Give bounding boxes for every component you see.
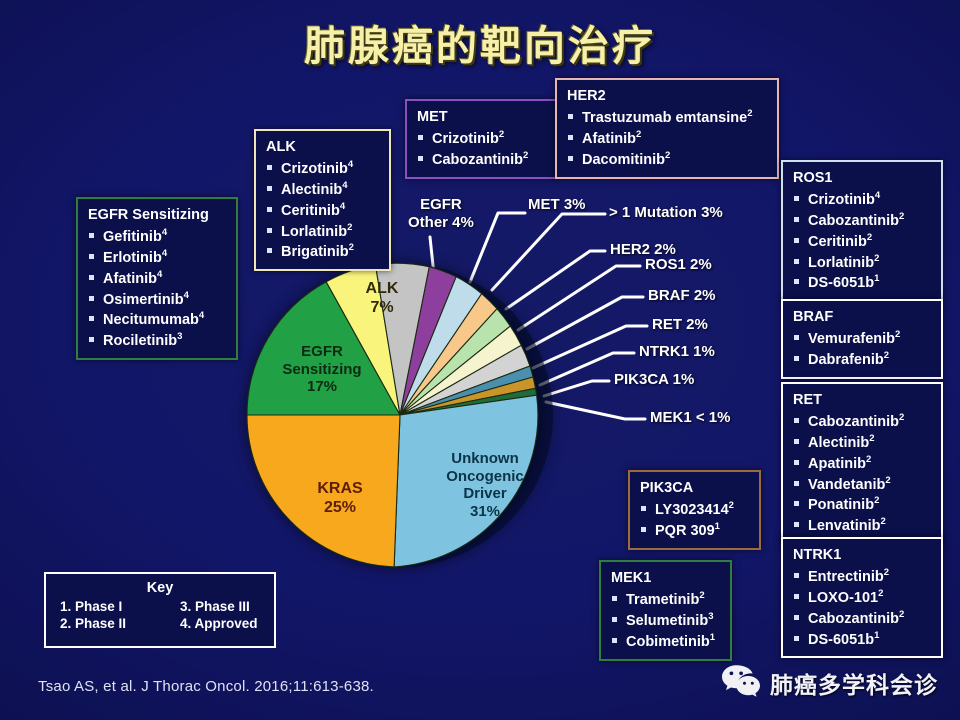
drug-item: DS-6051b1 <box>791 629 933 650</box>
bullet-square-icon <box>568 135 573 140</box>
slide-canvas: 肺腺癌的靶向治疗 <box>0 0 960 720</box>
drug-box-title-egfr-sensitizing: EGFR Sensitizing <box>88 206 228 224</box>
bullet-square-icon <box>794 636 799 641</box>
drug-name: Rociletinib <box>103 333 177 349</box>
drug-item: Cabozantinib2 <box>415 149 547 170</box>
drug-phase-superscript: 2 <box>899 412 904 423</box>
drug-phase-superscript: 2 <box>884 567 889 578</box>
drug-phase-superscript: 2 <box>349 242 354 253</box>
bullet-square-icon <box>794 460 799 465</box>
bullet-square-icon <box>568 156 573 161</box>
callout-pik3ca: PIK3CA 1% <box>614 371 694 388</box>
drug-item: LY30234142 <box>638 499 751 520</box>
drug-item: PQR 3091 <box>638 520 751 541</box>
drug-box-title-alk: ALK <box>266 138 381 156</box>
drug-box-braf: BRAFVemurafenib2Dabrafenib2 <box>781 299 943 379</box>
drug-name: Cabozantinib <box>808 414 899 430</box>
drug-list-ret: Cabozantinib2Alectinib2Apatinib2Vandetan… <box>791 411 933 536</box>
drug-box-title-braf: BRAF <box>793 308 933 326</box>
page-title: 肺腺癌的靶向治疗 <box>0 12 960 72</box>
drug-list-pik3ca: LY30234142PQR 3091 <box>638 499 751 541</box>
drug-box-her2: HER2Trastuzumab emtansine2Afatinib2Dacom… <box>555 78 779 179</box>
drug-item: Afatinib2 <box>565 128 769 149</box>
drug-phase-superscript: 2 <box>636 129 641 140</box>
drug-name: Trastuzumab emtansine <box>582 110 747 126</box>
bullet-square-icon <box>267 228 272 233</box>
key-item: 4. Approved <box>160 616 266 631</box>
drug-name: Vandetanib <box>808 476 885 492</box>
callout-ros1: ROS1 2% <box>645 256 712 273</box>
bullet-square-icon <box>794 501 799 506</box>
drug-item: Cabozantinib2 <box>791 608 933 629</box>
drug-phase-superscript: 2 <box>869 433 874 444</box>
bullet-square-icon <box>267 165 272 170</box>
drug-name: Erlotinib <box>103 250 162 266</box>
drug-phase-superscript: 2 <box>747 108 752 119</box>
drug-box-title-pik3ca: PIK3CA <box>640 479 751 497</box>
drug-box-ret: RETCabozantinib2Alectinib2Apatinib2Vande… <box>781 382 943 545</box>
drug-phase-superscript: 2 <box>699 590 704 601</box>
callout-egfr-other-line1: EGFR <box>408 196 474 214</box>
drug-box-ntrk1: NTRK1Entrectinib2LOXO-1012Cabozantinib2D… <box>781 537 943 658</box>
drug-item: Rociletinib3 <box>86 330 228 351</box>
bullet-square-icon <box>794 481 799 486</box>
drug-item: Ponatinib2 <box>791 494 933 515</box>
drug-item: Alectinib4 <box>264 179 381 200</box>
bullet-square-icon <box>89 296 94 301</box>
bullet-square-icon <box>794 238 799 243</box>
drug-phase-superscript: 2 <box>874 253 879 264</box>
key-item: 1. Phase I <box>54 599 160 614</box>
drug-list-mek1: Trametinib2Selumetinib3Cobimetinib1 <box>609 589 722 651</box>
key-legend-box: Key 1. Phase I 3. Phase III 2. Phase II … <box>44 572 276 648</box>
callout-egfr-other: EGFR Other 4% <box>408 196 474 233</box>
drug-item: Dabrafenib2 <box>791 349 933 370</box>
drug-item: Trastuzumab emtansine2 <box>565 107 769 128</box>
pie-chart: EGFR Sensitizing 17% ALK 7% KRAS 25% Unk… <box>240 255 560 575</box>
bullet-square-icon <box>89 316 94 321</box>
citation-text: Tsao AS, et al. J Thorac Oncol. 2016;11:… <box>38 678 374 695</box>
drug-name: Cabozantinib <box>432 152 523 168</box>
drug-name: Lorlatinib <box>281 223 347 239</box>
drug-name: Cabozantinib <box>808 611 899 627</box>
bullet-square-icon <box>794 594 799 599</box>
drug-phase-superscript: 4 <box>162 248 167 259</box>
drug-phase-superscript: 4 <box>162 227 167 238</box>
bullet-square-icon <box>641 506 646 511</box>
drug-list-met: Crizotinib2Cabozantinib2 <box>415 128 547 170</box>
drug-phase-superscript: 2 <box>874 495 879 506</box>
bullet-square-icon <box>794 217 799 222</box>
drug-name: Lenvatinib <box>808 518 881 534</box>
drug-item: Ceritinib4 <box>264 200 381 221</box>
drug-item: Crizotinib2 <box>415 128 547 149</box>
pie-slice-kras <box>247 415 400 567</box>
drug-box-alk: ALKCrizotinib4Alectinib4Ceritinib4Lorlat… <box>254 129 391 271</box>
bullet-square-icon <box>794 522 799 527</box>
callout-met: MET 3% <box>528 196 586 213</box>
key-item: 2. Phase II <box>54 616 160 631</box>
bullet-square-icon <box>612 638 617 643</box>
drug-name: Crizotinib <box>808 192 875 208</box>
drug-phase-superscript: 4 <box>875 190 880 201</box>
bullet-square-icon <box>794 356 799 361</box>
drug-item: Crizotinib4 <box>264 158 381 179</box>
key-items: 1. Phase I 3. Phase III 2. Phase II 4. A… <box>54 599 266 631</box>
drug-item: Cobimetinib1 <box>609 631 722 652</box>
drug-item: Vemurafenib2 <box>791 328 933 349</box>
drug-list-alk: Crizotinib4Alectinib4Ceritinib4Lorlatini… <box>264 158 381 262</box>
drug-phase-superscript: 2 <box>884 350 889 361</box>
drug-box-title-ros1: ROS1 <box>793 169 933 187</box>
drug-box-met: METCrizotinib2Cabozantinib2 <box>405 99 557 179</box>
drug-name: Alectinib <box>808 435 869 451</box>
drug-item: Selumetinib3 <box>609 610 722 631</box>
drug-item: DS-6051b1 <box>791 272 933 293</box>
drug-name: Brigatinib <box>281 244 349 260</box>
drug-box-title-met: MET <box>417 108 547 126</box>
wechat-account-badge: 肺癌多学科会诊 <box>721 664 938 702</box>
drug-box-ros1: ROS1Crizotinib4Cabozantinib2Ceritinib2Lo… <box>781 160 943 302</box>
drug-name: Entrectinib <box>808 569 884 585</box>
drug-item: Crizotinib4 <box>791 189 933 210</box>
drug-item: Trametinib2 <box>609 589 722 610</box>
drug-item: Dacomitinib2 <box>565 149 769 170</box>
drug-name: Necitumumab <box>103 312 199 328</box>
drug-item: Alectinib2 <box>791 432 933 453</box>
drug-item: Erlotinib4 <box>86 247 228 268</box>
drug-item: Apatinib2 <box>791 453 933 474</box>
pie-slice-unknown-oncogenic-driver <box>394 395 538 567</box>
bullet-square-icon <box>267 207 272 212</box>
drug-phase-superscript: 2 <box>347 222 352 233</box>
drug-list-her2: Trastuzumab emtansine2Afatinib2Dacomitin… <box>565 107 769 169</box>
drug-list-ros1: Crizotinib4Cabozantinib2Ceritinib2Lorlat… <box>791 189 933 293</box>
drug-item: Cabozantinib2 <box>791 411 933 432</box>
drug-phase-superscript: 2 <box>499 129 504 140</box>
drug-name: DS-6051b <box>808 275 874 291</box>
drug-item: Entrectinib2 <box>791 566 933 587</box>
drug-item: LOXO-1012 <box>791 587 933 608</box>
drug-phase-superscript: 2 <box>899 211 904 222</box>
drug-name: PQR 309 <box>655 523 715 539</box>
drug-phase-superscript: 2 <box>885 475 890 486</box>
drug-box-title-ntrk1: NTRK1 <box>793 546 933 564</box>
bullet-square-icon <box>794 615 799 620</box>
bullet-square-icon <box>418 135 423 140</box>
drug-name: LY3023414 <box>655 502 729 518</box>
drug-name: Selumetinib <box>626 613 708 629</box>
drug-item: Cabozantinib2 <box>791 210 933 231</box>
drug-item: Ceritinib2 <box>791 231 933 252</box>
bullet-square-icon <box>89 337 94 342</box>
drug-name: Crizotinib <box>281 161 348 177</box>
drug-name: Afatinib <box>582 131 636 147</box>
drug-phase-superscript: 4 <box>199 310 204 321</box>
drug-name: Osimertinib <box>103 291 184 307</box>
drug-phase-superscript: 2 <box>665 150 670 161</box>
drug-name: Crizotinib <box>432 131 499 147</box>
drug-phase-superscript: 2 <box>899 609 904 620</box>
drug-list-egfr-sensitizing: Gefitinib4Erlotinib4Afatinib4Osimertinib… <box>86 226 228 351</box>
drug-phase-superscript: 4 <box>184 290 189 301</box>
callout-egfr-other-line2: Other 4% <box>408 214 474 232</box>
drug-phase-superscript: 1 <box>874 273 879 284</box>
drug-phase-superscript: 4 <box>340 201 345 212</box>
drug-phase-superscript: 1 <box>715 521 720 532</box>
bullet-square-icon <box>794 196 799 201</box>
drug-item: Necitumumab4 <box>86 309 228 330</box>
drug-phase-superscript: 3 <box>708 611 713 622</box>
drug-phase-superscript: 4 <box>342 180 347 191</box>
bullet-square-icon <box>612 617 617 622</box>
drug-name: Gefitinib <box>103 229 162 245</box>
drug-name: LOXO-101 <box>808 590 878 606</box>
drug-name: Vemurafenib <box>808 331 895 347</box>
drug-phase-superscript: 4 <box>348 159 353 170</box>
drug-name: Cabozantinib <box>808 213 899 229</box>
drug-phase-superscript: 2 <box>729 500 734 511</box>
bullet-square-icon <box>612 596 617 601</box>
drug-box-egfr-sensitizing: EGFR SensitizingGefitinib4Erlotinib4Afat… <box>76 197 238 360</box>
drug-name: Afatinib <box>103 271 157 287</box>
drug-name: Alectinib <box>281 182 342 198</box>
drug-phase-superscript: 2 <box>878 588 883 599</box>
bullet-square-icon <box>267 248 272 253</box>
key-title: Key <box>54 580 266 596</box>
drug-item: Osimertinib4 <box>86 289 228 310</box>
drug-name: Apatinib <box>808 456 866 472</box>
wechat-icon <box>721 664 761 702</box>
bullet-square-icon <box>794 573 799 578</box>
drug-phase-superscript: 3 <box>177 331 182 342</box>
callout-ntrk1: NTRK1 1% <box>639 343 715 360</box>
callout-mek1: MEK1 < 1% <box>650 409 730 426</box>
bullet-square-icon <box>794 335 799 340</box>
wechat-account-name: 肺癌多学科会诊 <box>770 666 938 700</box>
drug-box-pik3ca: PIK3CALY30234142PQR 3091 <box>628 470 761 550</box>
bullet-square-icon <box>794 418 799 423</box>
drug-phase-superscript: 4 <box>157 269 162 280</box>
drug-box-title-her2: HER2 <box>567 87 769 105</box>
drug-box-title-ret: RET <box>793 391 933 409</box>
bullet-square-icon <box>641 527 646 532</box>
drug-name: Ceritinib <box>281 203 340 219</box>
drug-item: Afatinib4 <box>86 268 228 289</box>
drug-name: Ponatinib <box>808 497 874 513</box>
drug-box-mek1: MEK1Trametinib2Selumetinib3Cobimetinib1 <box>599 560 732 661</box>
bullet-square-icon <box>794 439 799 444</box>
drug-name: Dabrafenib <box>808 352 884 368</box>
bullet-square-icon <box>794 259 799 264</box>
drug-name: Lorlatinib <box>808 254 874 270</box>
drug-box-title-mek1: MEK1 <box>611 569 722 587</box>
drug-phase-superscript: 1 <box>874 630 879 641</box>
bullet-square-icon <box>418 156 423 161</box>
drug-item: Lorlatinib2 <box>264 221 381 242</box>
drug-item: Brigatinib2 <box>264 241 381 262</box>
drug-name: DS-6051b <box>808 631 874 647</box>
drug-phase-superscript: 2 <box>523 150 528 161</box>
drug-name: Dacomitinib <box>582 152 665 168</box>
drug-phase-superscript: 2 <box>881 516 886 527</box>
bullet-square-icon <box>89 254 94 259</box>
callout-braf: BRAF 2% <box>648 287 716 304</box>
drug-phase-superscript: 2 <box>866 454 871 465</box>
drug-list-ntrk1: Entrectinib2LOXO-1012Cabozantinib2DS-605… <box>791 566 933 649</box>
bullet-square-icon <box>568 114 573 119</box>
drug-phase-superscript: 2 <box>895 329 900 340</box>
drug-item: Vandetanib2 <box>791 474 933 495</box>
drug-item: Lorlatinib2 <box>791 252 933 273</box>
drug-name: Trametinib <box>626 592 699 608</box>
drug-name: Cobimetinib <box>626 634 710 650</box>
bullet-square-icon <box>89 275 94 280</box>
drug-item: Lenvatinib2 <box>791 515 933 536</box>
drug-phase-superscript: 2 <box>867 232 872 243</box>
drug-list-braf: Vemurafenib2Dabrafenib2 <box>791 328 933 370</box>
callout-ret: RET 2% <box>652 316 708 333</box>
bullet-square-icon <box>267 186 272 191</box>
bullet-square-icon <box>794 279 799 284</box>
drug-phase-superscript: 1 <box>710 632 715 643</box>
key-item: 3. Phase III <box>160 599 266 614</box>
drug-item: Gefitinib4 <box>86 226 228 247</box>
bullet-square-icon <box>89 233 94 238</box>
drug-name: Ceritinib <box>808 234 867 250</box>
callout-more-than-one-mutation: > 1 Mutation 3% <box>609 204 723 221</box>
